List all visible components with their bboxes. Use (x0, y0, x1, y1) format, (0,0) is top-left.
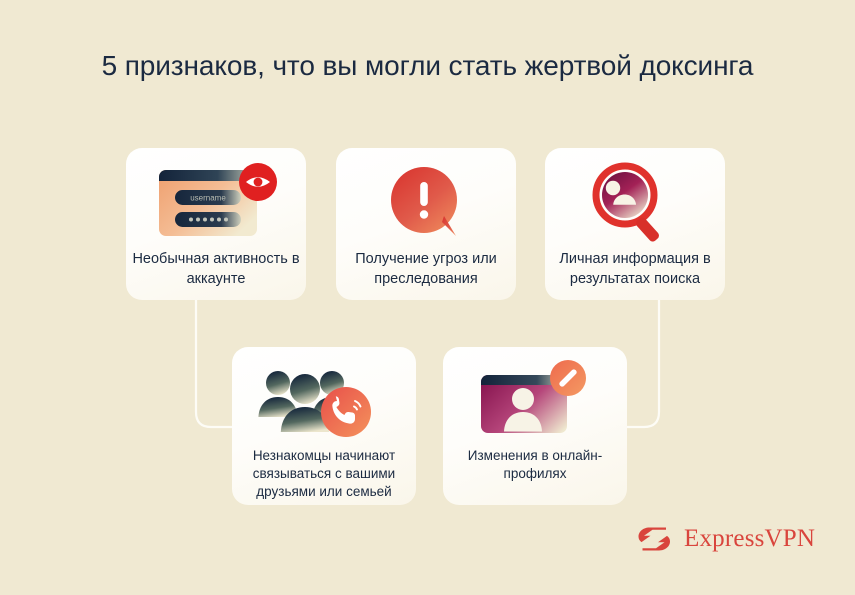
warning-speech-bubble-icon (346, 164, 506, 242)
card-strangers-contacting[interactable]: Незнакомцы начинают связываться с вашими… (232, 347, 416, 505)
card-unusual-account-activity[interactable]: username Необычная активность в аккаунте (126, 148, 306, 300)
card-label: Незнакомцы начинают связываться с вашими… (232, 447, 416, 502)
username-field-value: username (190, 194, 226, 203)
card-personal-info-search-results[interactable]: Личная информация в результатах поиска (545, 148, 725, 300)
page-title: 5 признаков, что вы могли стать жертвой … (0, 50, 855, 82)
expressvpn-logo[interactable]: ExpressVPN (636, 522, 815, 556)
card-label: Личная информация в результатах поиска (545, 250, 725, 289)
card-online-profile-changes[interactable]: Изменения в онлайн-профилях (443, 347, 627, 505)
brand-name: ExpressVPN (684, 525, 815, 553)
connector-left (196, 300, 236, 427)
phone-call-badge (321, 387, 371, 437)
card-label: Необычная активность в аккаунте (126, 250, 306, 289)
card-label: Получение угроз или преследования (336, 250, 516, 289)
card-label: Изменения в онлайн-профилях (443, 447, 627, 483)
expressvpn-e-logo-icon (636, 522, 674, 556)
people-group-icon (239, 361, 409, 441)
magnifier-person-icon (555, 164, 715, 242)
card-threats-harassment[interactable]: Получение угроз или преследования (336, 148, 516, 300)
infographic-root: 5 признаков, что вы могли стать жертвой … (0, 0, 855, 595)
login-form-icon: username (136, 164, 296, 242)
profile-card-icon (450, 361, 620, 441)
